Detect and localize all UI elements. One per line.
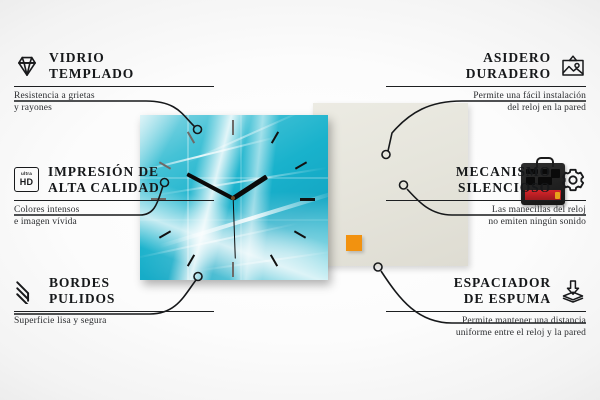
divider: [14, 200, 214, 201]
divider: [386, 311, 586, 312]
feature-title: ASIDERO DURADERO: [466, 50, 551, 81]
feature-subtitle-line2: y rayones: [14, 103, 214, 115]
feature-subtitle-line2: no emiten ningún sonido: [386, 217, 586, 229]
polished-edges-icon: [14, 278, 40, 304]
feature-header: MECANISMO SILENCIOSO: [386, 164, 586, 195]
gear-icon: [560, 167, 586, 193]
feature-header: ESPACIADOR DE ESPUMA: [386, 275, 586, 306]
feature-subtitle-line1: Permite mantener una distancia: [386, 316, 586, 328]
feature-espaciador-de-espuma[interactable]: ESPACIADOR DE ESPUMA Permite mantener un…: [386, 275, 586, 339]
ultra-hd-icon: ultra HD: [14, 167, 39, 192]
clock-second-hand: [232, 199, 235, 259]
divider: [386, 86, 586, 87]
clock-pivot: [231, 196, 235, 200]
feature-header: ultra HD IMPRESIÓN DE ALTA CALIDAD: [14, 164, 214, 195]
feature-subtitle-line1: Resistencia a grietas: [14, 91, 214, 103]
feature-subtitle-line2: uniforme entre el reloj y la pared: [386, 328, 586, 340]
feature-header: BORDES PULIDOS: [14, 275, 214, 306]
feature-title: ESPACIADOR DE ESPUMA: [454, 275, 551, 306]
feature-subtitle-line1: Superficie lisa y segura: [14, 316, 214, 328]
press-down-pad-icon: [560, 278, 586, 304]
feature-title: VIDRIO TEMPLADO: [49, 50, 134, 81]
feature-vidrio-templado[interactable]: VIDRIO TEMPLADO Resistencia a grietas y …: [14, 50, 214, 114]
feature-title: IMPRESIÓN DE ALTA CALIDAD: [48, 164, 160, 195]
feature-header: ASIDERO DURADERO: [386, 50, 586, 81]
feature-subtitle-line1: Colores intensos: [14, 205, 214, 217]
feature-title: MECANISMO SILENCIOSO: [456, 164, 551, 195]
feature-bordes-pulidos[interactable]: BORDES PULIDOS Superficie lisa y segura: [14, 275, 214, 328]
feature-asidero-duradero[interactable]: ASIDERO DURADERO Permite una fácil insta…: [386, 50, 586, 114]
infographic-stage: VIDRIO TEMPLADO Resistencia a grietas y …: [0, 0, 600, 400]
ultra-hd-badge-bottom: HD: [20, 178, 33, 187]
divider: [14, 86, 214, 87]
feature-subtitle-line2: e imagen vívida: [14, 217, 214, 229]
feature-subtitle-line2: del reloj en la pared: [386, 103, 586, 115]
feature-mecanismo-silencioso[interactable]: MECANISMO SILENCIOSO Las manecillas del …: [386, 164, 586, 228]
diamond-icon: [14, 53, 40, 79]
feature-title: BORDES PULIDOS: [49, 275, 115, 306]
divider: [386, 200, 586, 201]
feature-subtitle-line1: Permite una fácil instalación: [386, 91, 586, 103]
divider: [14, 311, 214, 312]
feature-impresion-alta-calidad[interactable]: ultra HD IMPRESIÓN DE ALTA CALIDAD Color…: [14, 164, 214, 228]
hanging-frame-icon: [560, 53, 586, 79]
foam-spacer: [346, 235, 362, 251]
feature-header: VIDRIO TEMPLADO: [14, 50, 214, 81]
feature-subtitle-line1: Las manecillas del reloj: [386, 205, 586, 217]
